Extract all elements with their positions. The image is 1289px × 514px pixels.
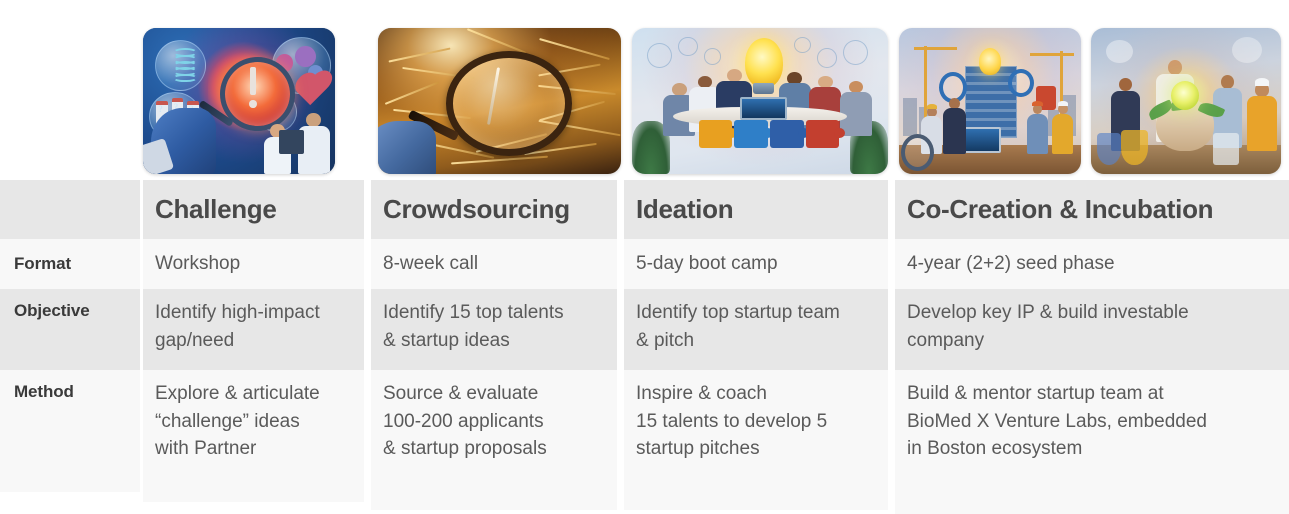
cell-method: Inspire & coach 15 talents to develop 5 …: [624, 370, 888, 510]
cell-text: Source & evaluate 100-200 applicants & s…: [383, 383, 547, 459]
cell-objective: Identify top startup team & pitch: [624, 289, 888, 370]
column-header: Ideation: [624, 180, 888, 239]
row-label-text: Format: [14, 254, 71, 273]
column-header-text: Ideation: [636, 194, 733, 224]
cell-text: 8-week call: [383, 253, 478, 274]
puzzle-piece-icon: [806, 120, 839, 148]
cocreation-illustration: [899, 28, 1081, 174]
gloved-hand-icon: [378, 121, 436, 174]
cell-format: 4-year (2+2) seed phase: [895, 239, 1289, 289]
row-label-objective: Objective: [0, 289, 140, 370]
cell-objective: Develop key IP & build investable compan…: [895, 289, 1289, 370]
cell-text: Identify 15 top talents & startup ideas: [383, 302, 564, 351]
lightbulb-icon: [979, 48, 1001, 74]
cell-objective: Identify high-impact gap/need: [143, 289, 364, 370]
illustration-strip: ? ? ? ?: [0, 0, 1289, 180]
column-header: Crowdsourcing: [371, 180, 617, 239]
puzzle-piece-icon: [734, 120, 767, 148]
cell-format: Workshop: [143, 239, 364, 289]
cell-objective: Identify 15 top talents & startup ideas: [371, 289, 617, 370]
cell-text: Inspire & coach 15 talents to develop 5 …: [636, 383, 827, 459]
cell-text: Identify top startup team & pitch: [636, 302, 840, 351]
cell-format: 8-week call: [371, 239, 617, 289]
flask-icon: [1121, 130, 1148, 165]
row-label-method: Method: [0, 370, 140, 492]
column-crowdsourcing: Crowdsourcing 8-week call Identify 15 to…: [371, 180, 617, 510]
puzzle-piece-icon: [699, 120, 732, 148]
column-header: Co-Creation & Incubation: [895, 180, 1289, 239]
row-label-text: Method: [14, 382, 74, 401]
cell-text: Workshop: [155, 253, 240, 274]
cell-method: Explore & articulate “challenge” ideas w…: [143, 370, 364, 502]
cell-method: Source & evaluate 100-200 applicants & s…: [371, 370, 617, 510]
incubation-illustration: [1091, 28, 1281, 174]
row-label-text: Objective: [14, 301, 90, 320]
column-header: Challenge: [143, 180, 364, 239]
gear-icon: [1008, 69, 1034, 97]
table-corner-cell: [0, 180, 140, 239]
cell-text: 4-year (2+2) seed phase: [907, 253, 1115, 274]
cell-text: Explore & articulate “challenge” ideas w…: [155, 383, 320, 459]
gear-icon: [901, 134, 934, 171]
magnifier-icon: [446, 51, 572, 156]
challenge-illustration: ? ? ? ?: [143, 28, 335, 174]
column-header-text: Co-Creation & Incubation: [907, 194, 1213, 224]
column-cocreation-incubation: Co-Creation & Incubation 4-year (2+2) se…: [895, 180, 1289, 514]
crowdsourcing-illustration: [378, 28, 621, 174]
innovation-process-table: Format Objective Method Challenge Worksh…: [0, 180, 1289, 514]
column-header-text: Crowdsourcing: [383, 194, 570, 224]
column-ideation: Ideation 5-day boot camp Identify top st…: [624, 180, 888, 510]
row-label-column: Format Objective Method: [0, 180, 140, 492]
ideation-illustration: [632, 28, 888, 174]
column-header-text: Challenge: [155, 194, 277, 224]
lightbulb-icon: [1171, 81, 1200, 110]
cell-text: Identify high-impact gap/need: [155, 302, 320, 351]
row-label-format: Format: [0, 239, 140, 289]
column-challenge: Challenge Workshop Identify high-impact …: [143, 180, 364, 502]
cell-format: 5-day boot camp: [624, 239, 888, 289]
jar-icon: [1213, 133, 1240, 165]
cell-text: 5-day boot camp: [636, 253, 778, 274]
cell-method: Build & mentor startup team at BioMed X …: [895, 370, 1289, 514]
cell-text: Develop key IP & build investable compan…: [907, 302, 1189, 351]
dna-icon: [170, 47, 201, 82]
puzzle-piece-icon: [770, 120, 803, 148]
cell-text: Build & mentor startup team at BioMed X …: [907, 383, 1207, 459]
